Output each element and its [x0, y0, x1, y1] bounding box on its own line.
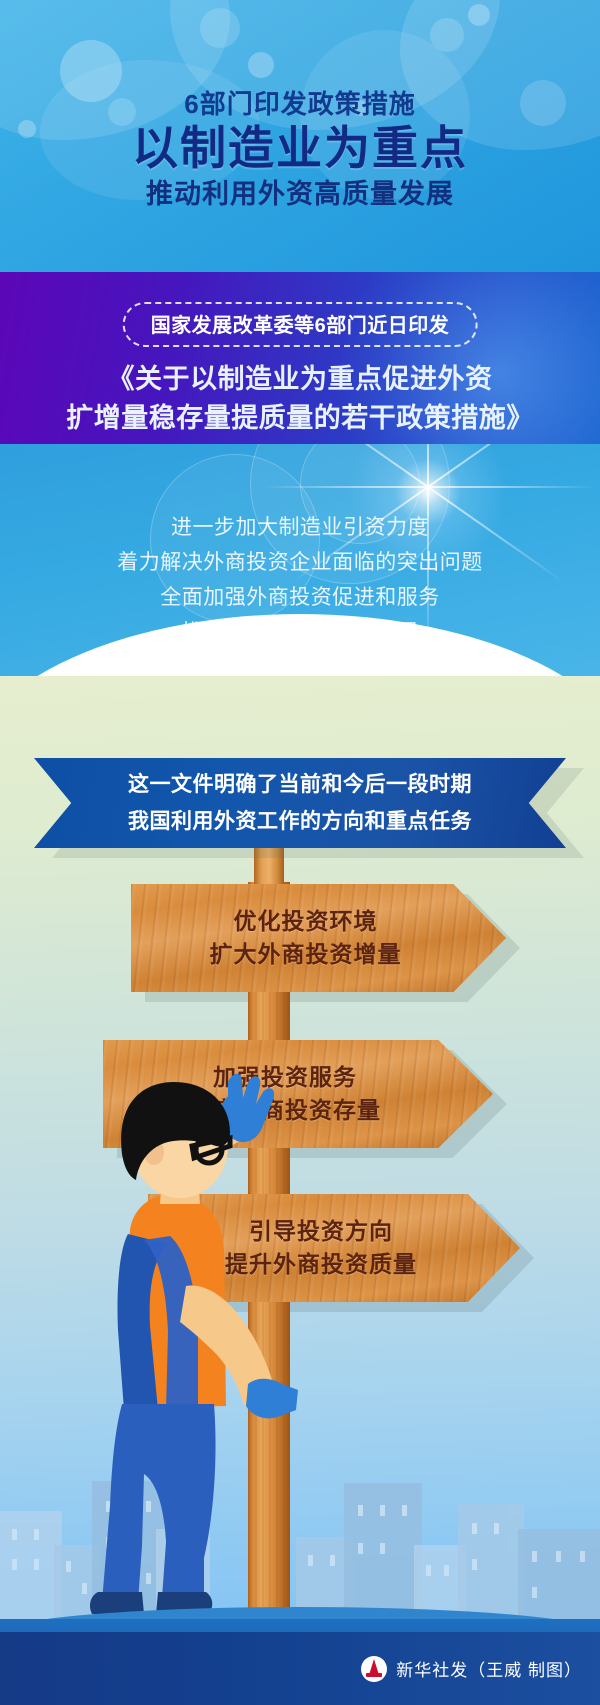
worker-illustration	[58, 986, 298, 1646]
issuer-section: 国家发展改革委等6部门近日印发 《关于以制造业为重点促进外资 扩增量稳存量提质量…	[0, 272, 600, 444]
worker-glove-lower	[246, 1379, 298, 1419]
decorative-bubble	[248, 52, 274, 78]
signpost-1[interactable]: 优化投资环境 扩大外商投资增量	[131, 884, 506, 992]
signpost-1-line2: 扩大外商投资增量	[210, 938, 402, 971]
issuer-pill: 国家发展改革委等6部门近日印发	[123, 302, 478, 347]
decorative-bubble	[200, 8, 240, 48]
goal-line-1: 进一步加大制造业引资力度	[0, 510, 600, 545]
signpost-1-line1: 优化投资环境	[210, 905, 402, 938]
goals-section: 进一步加大制造业引资力度 着力解决外商投资企业面临的突出问题 全面加强外商投资促…	[0, 444, 600, 676]
footer-bar: 新华社发（王威 制图）	[0, 1632, 600, 1705]
ribbon-line-1: 这一文件明确了当前和今后一段时期	[34, 766, 566, 803]
worker-pants	[102, 1404, 216, 1602]
hero-kicker: 6部门印发政策措施	[0, 88, 600, 120]
ribbon-text: 这一文件明确了当前和今后一段时期 我国利用外资工作的方向和重点任务	[34, 766, 566, 840]
goal-line-3: 全面加强外商投资促进和服务	[0, 580, 600, 615]
signpost-1-label: 优化投资环境 扩大外商投资增量	[210, 905, 402, 971]
goal-line-2: 着力解决外商投资企业面临的突出问题	[0, 545, 600, 580]
decorative-bubble	[468, 4, 490, 26]
infographic-poster: 6部门印发政策措施 以制造业为重点 推动利用外资高质量发展 国家发展改革委等6部…	[0, 0, 600, 1705]
footer-credit: 新华社发（王威 制图）	[396, 1656, 582, 1681]
hero-title: 以制造业为重点	[0, 120, 600, 176]
xinhua-logo-icon	[361, 1656, 387, 1682]
document-title-line1: 《关于以制造业为重点促进外资	[0, 360, 600, 399]
hero-subtitle: 推动利用外资高质量发展	[0, 176, 600, 212]
hero-section: 6部门印发政策措施 以制造业为重点 推动利用外资高质量发展	[0, 0, 600, 272]
document-title: 《关于以制造业为重点促进外资 扩增量稳存量提质量的若干政策措施》	[0, 360, 600, 438]
ribbon-line-2: 我国利用外资工作的方向和重点任务	[34, 803, 566, 840]
hero-text-block: 6部门印发政策措施 以制造业为重点 推动利用外资高质量发展	[0, 88, 600, 212]
document-title-line2: 扩增量稳存量提质量的若干政策措施》	[0, 399, 600, 438]
scene-section: 这一文件明确了当前和今后一段时期 我国利用外资工作的方向和重点任务 优化投资环境…	[0, 676, 600, 1705]
decorative-bubble	[430, 18, 464, 52]
